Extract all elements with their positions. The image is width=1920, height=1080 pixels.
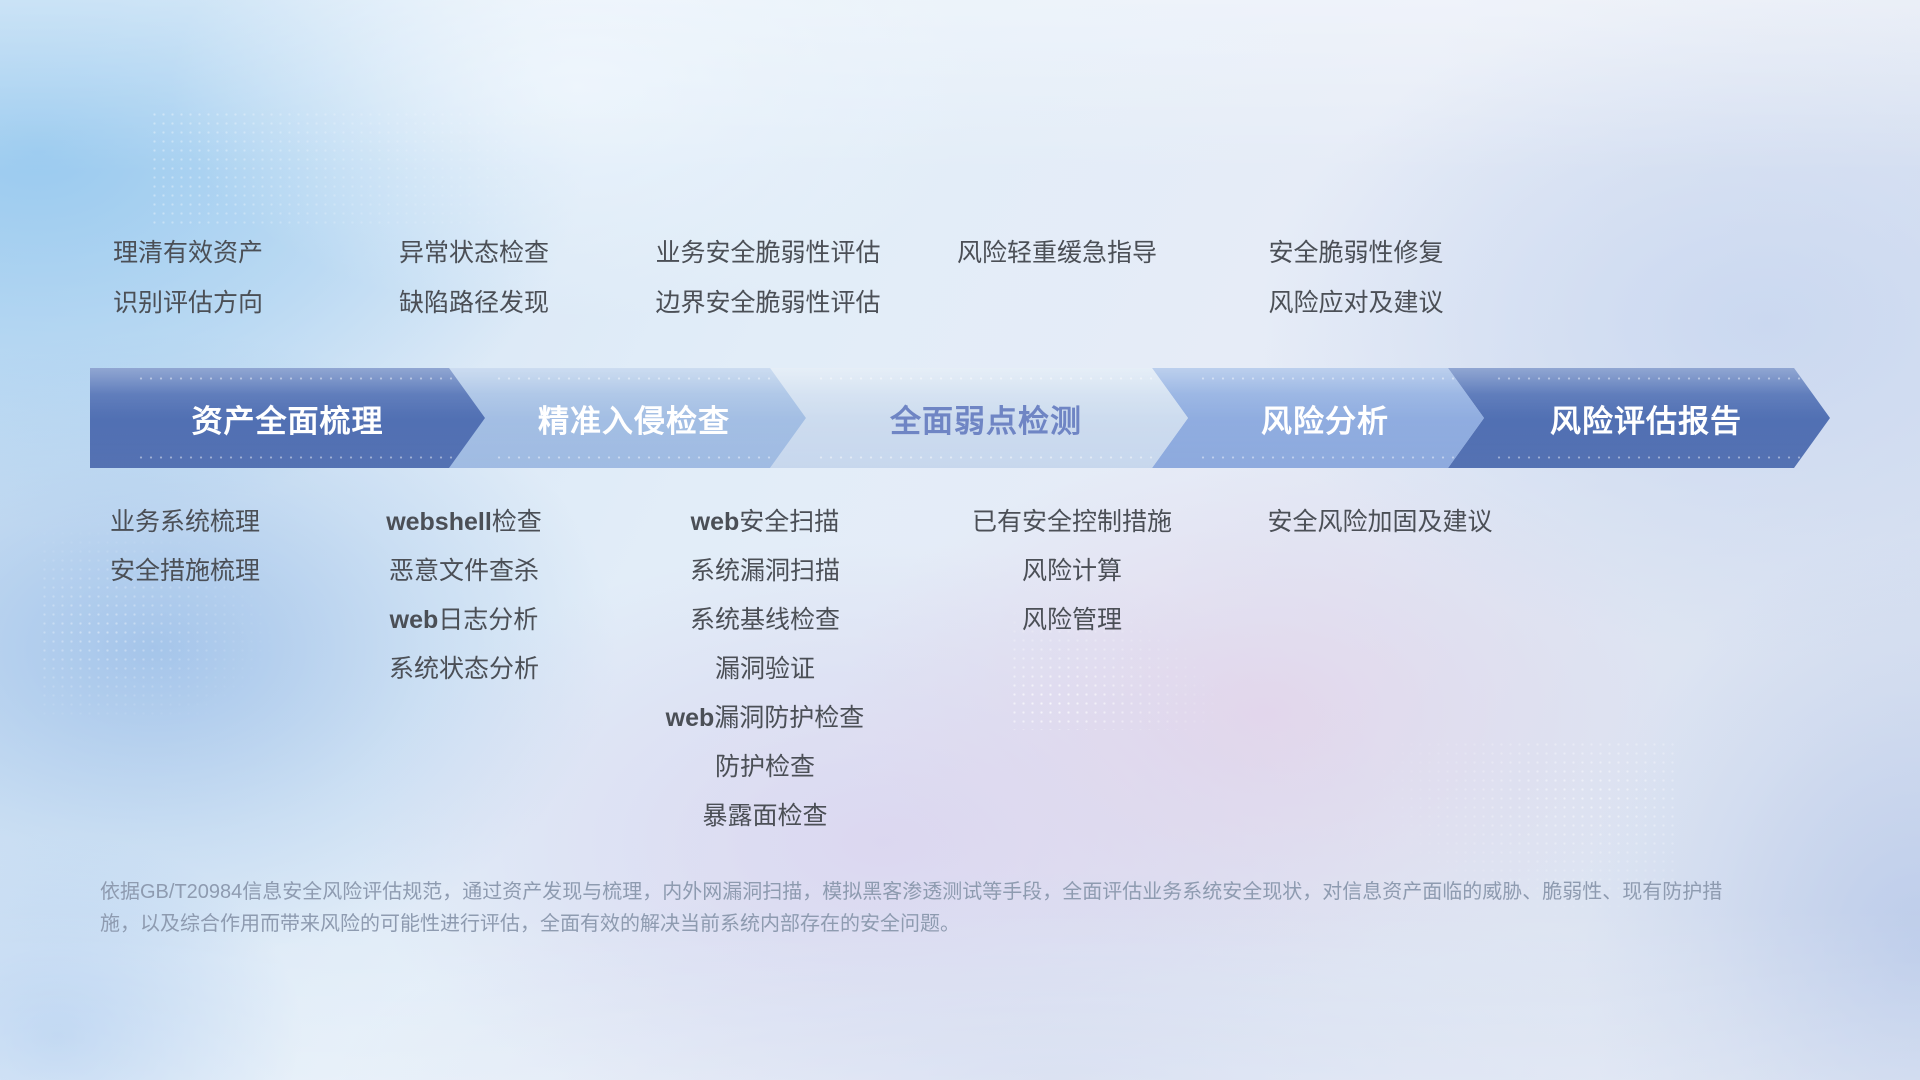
arrow-dot-texture-top <box>816 374 1160 383</box>
arrow-dot-texture-bottom <box>1494 453 1802 462</box>
bottom-labels-risk-report: 安全风险加固及建议 <box>1080 498 1680 547</box>
process-stage-label: 全面弱点检测 <box>876 396 1082 441</box>
process-stage-label: 资产全面梳理 <box>192 396 384 441</box>
bottom-label-bold-prefix: web <box>666 704 715 732</box>
process-stage-risk-report[interactable]: 风险评估报告 <box>1448 368 1830 468</box>
arrow-dot-texture-top <box>1494 374 1802 383</box>
bottom-label-line: 安全风险加固及建议 <box>1080 498 1680 547</box>
process-stage-label: 风险分析 <box>1247 396 1389 441</box>
bottom-label-line: 漏洞验证 <box>465 645 1065 694</box>
arrow-dot-texture-bottom <box>136 453 457 462</box>
bottom-label-line: 防护检查 <box>465 743 1065 792</box>
process-stage-risk-analysis[interactable]: 风险分析 <box>1152 368 1484 468</box>
arrow-dot-texture-bottom <box>816 453 1160 462</box>
process-arrow-banner: 资产全面梳理精准入侵检查全面弱点检测风险分析风险评估报告 <box>90 368 1830 468</box>
top-label-line: 边界安全脆弱性评估 <box>468 278 1068 328</box>
top-labels-risk-report: 安全脆弱性修复风险应对及建议 <box>1056 228 1656 328</box>
bottom-label-line: 风险计算 <box>772 547 1372 596</box>
top-label-line: 风险应对及建议 <box>1056 278 1656 328</box>
bottom-label-line: 风险管理 <box>772 596 1372 645</box>
arrow-dot-texture-top <box>136 374 457 383</box>
process-stage-intrusion-check[interactable]: 精准入侵检查 <box>448 368 806 468</box>
arrow-dot-texture-bottom <box>1198 453 1456 462</box>
arrow-dot-texture-top <box>1198 374 1456 383</box>
process-stage-label: 精准入侵检查 <box>524 396 730 441</box>
bottom-label-line: 暴露面检查 <box>465 792 1065 841</box>
process-stage-label: 风险评估报告 <box>1536 396 1742 441</box>
arrow-dot-texture-bottom <box>494 453 778 462</box>
top-label-line: 安全脆弱性修复 <box>1056 228 1656 278</box>
process-stage-asset-inventory[interactable]: 资产全面梳理 <box>90 368 485 468</box>
slide-canvas: 理清有效资产识别评估方向异常状态检查缺陷路径发现业务安全脆弱性评估边界安全脆弱性… <box>0 0 1920 1080</box>
bottom-label-bold-prefix: web <box>390 606 439 634</box>
bottom-label-text: 漏洞防护检查 <box>714 704 864 732</box>
bottom-label-line: web漏洞防护检查 <box>465 694 1065 743</box>
bottom-label-bold-prefix: web <box>691 508 740 536</box>
upper-annotation-row: 理清有效资产识别评估方向异常状态检查缺陷路径发现业务安全脆弱性评估边界安全脆弱性… <box>0 228 1920 338</box>
footer-paragraph: 依据GB/T20984信息安全风险评估规范，通过资产发现与梳理，内外网漏洞扫描，… <box>100 876 1740 940</box>
footer-description: 依据GB/T20984信息安全风险评估规范，通过资产发现与梳理，内外网漏洞扫描，… <box>100 876 1740 940</box>
dot-texture-top <box>150 110 670 230</box>
process-stage-weakness-detection[interactable]: 全面弱点检测 <box>770 368 1188 468</box>
arrow-dot-texture-top <box>494 374 778 383</box>
